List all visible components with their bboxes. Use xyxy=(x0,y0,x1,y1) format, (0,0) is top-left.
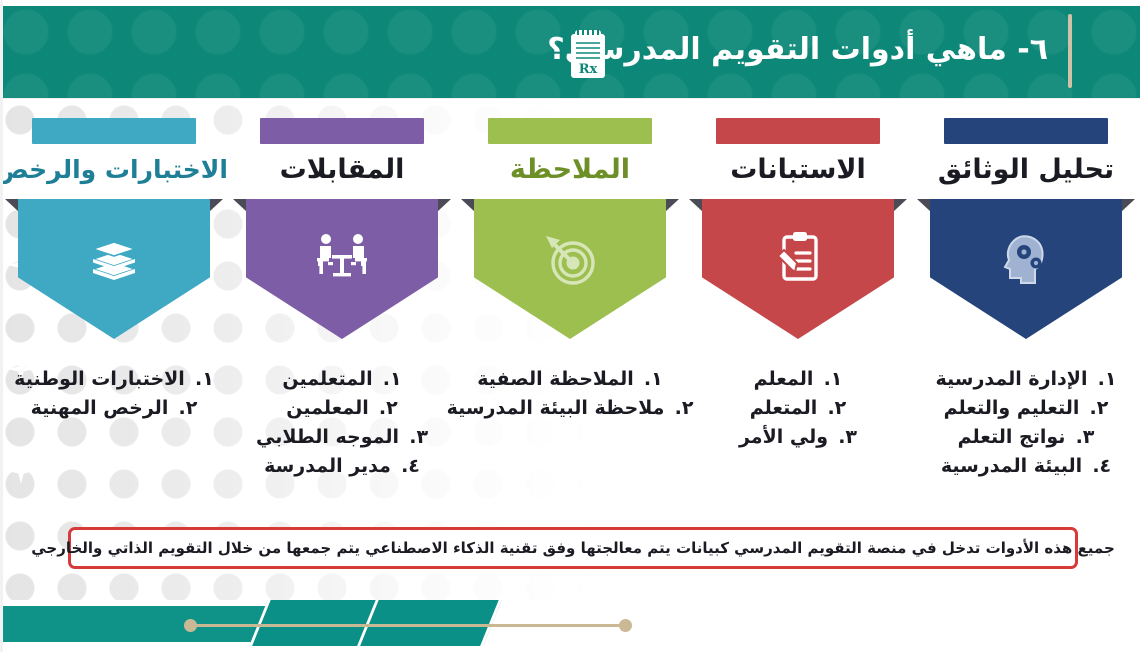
pennant-fold-icon xyxy=(461,199,475,212)
item-number: ٢. xyxy=(1088,394,1108,423)
item-number: ٢. xyxy=(826,394,846,423)
list-item: ١. المتعلمين xyxy=(242,365,442,394)
item-number: ٢. xyxy=(673,394,693,423)
item-number: ١. xyxy=(194,365,214,394)
item-number: ٢. xyxy=(378,394,398,423)
tools-columns: تحليل الوثائق xyxy=(0,118,1140,518)
column-title: تحليل الوثائق xyxy=(912,153,1140,187)
header-divider-rule xyxy=(1068,14,1072,88)
pennant-fold-icon xyxy=(209,199,223,212)
item-label: الموجه الطلابي xyxy=(256,423,399,452)
pennant-fold-icon xyxy=(233,199,247,212)
page-title: ٦- ماهي أدوات التقويم المدرسي؟ xyxy=(547,22,1048,78)
note-text: جميع هذه الأدوات تدخل في منصة التقويم ال… xyxy=(31,539,1115,557)
column-pennant xyxy=(702,199,894,339)
column-document-analysis: تحليل الوثائق xyxy=(912,118,1140,518)
footer-dot-end xyxy=(619,619,632,632)
column-top-bar xyxy=(488,118,652,144)
column-title-plate: تحليل الوثائق xyxy=(912,144,1140,199)
item-label: الإدارة المدرسية xyxy=(936,365,1088,394)
column-top-bar xyxy=(716,118,880,144)
column-pennant xyxy=(474,199,666,339)
column-questionnaires: الاستبانات xyxy=(684,118,912,518)
column-item-list: ١. المتعلمين ٢. المعلمين ٣. الموجه الطلا… xyxy=(228,365,456,481)
item-label: المعلمين xyxy=(286,394,368,423)
column-tests-licenses: الاختبارات والرخص xyxy=(0,118,228,518)
item-number: ١. xyxy=(822,365,842,394)
column-item-list: ١. المعلم ٢. المتعلم ٣. ولي الأمر xyxy=(684,365,912,452)
column-pennant xyxy=(18,199,210,339)
list-item: ٤. مدير المدرسة xyxy=(242,452,442,481)
list-item: ٤. البيئة المدرسية xyxy=(926,452,1126,481)
list-item: ٢. المتعلم xyxy=(698,394,898,423)
item-number: ٣. xyxy=(1074,423,1094,452)
item-label: المعلم xyxy=(754,365,814,394)
stacked-books-icon xyxy=(81,225,147,291)
column-title: الاستبانات xyxy=(684,153,912,187)
item-label: التعليم والتعلم xyxy=(944,394,1080,423)
pennant-fold-icon xyxy=(437,199,451,212)
interview-two-people-icon xyxy=(309,225,375,291)
column-title: المقابلات xyxy=(228,153,456,187)
item-number: ٤. xyxy=(400,452,420,481)
footer-baseline xyxy=(0,646,1140,652)
item-number: ٢. xyxy=(177,394,197,423)
column-observation: الملاحظة xyxy=(456,118,684,518)
clipboard-pencil-icon xyxy=(765,225,831,291)
item-number: ١. xyxy=(643,365,663,394)
item-label: المتعلمين xyxy=(282,365,372,394)
list-item: ١. الملاحظة الصفية xyxy=(470,365,670,394)
pennant-fold-icon xyxy=(665,199,679,212)
item-number: ٣. xyxy=(837,423,857,452)
column-pennant xyxy=(246,199,438,339)
item-label: نواتج التعلم xyxy=(958,423,1066,452)
item-label: المتعلم xyxy=(750,394,818,423)
clipboard-prescription-icon: Rx xyxy=(566,28,610,80)
list-item: ١. الاختبارات الوطنية xyxy=(14,365,214,394)
list-item: ٣. نواتج التعلم xyxy=(926,423,1126,452)
list-item: ٣. ولي الأمر xyxy=(698,423,898,452)
footer-dot-start xyxy=(184,619,197,632)
column-item-list: ١. الاختبارات الوطنية ٢. الرخص المهنية xyxy=(0,365,228,423)
column-title: الاختبارات والرخص xyxy=(0,153,228,187)
column-title-plate: الملاحظة xyxy=(456,144,684,199)
list-item: ٢. المعلمين xyxy=(242,394,442,423)
note-banner: جميع هذه الأدوات تدخل في منصة التقويم ال… xyxy=(68,527,1078,569)
slide-header-bar: ٦- ماهي أدوات التقويم المدرسي؟ xyxy=(0,6,1140,98)
pennant-fold-icon xyxy=(1121,199,1135,212)
item-label: الملاحظة الصفية xyxy=(477,365,633,394)
list-item: ١. المعلم xyxy=(698,365,898,394)
list-item: ٣. الموجه الطلابي xyxy=(242,423,442,452)
item-number: ١. xyxy=(382,365,402,394)
column-top-bar xyxy=(944,118,1108,144)
column-title-plate: الاستبانات xyxy=(684,144,912,199)
pennant-fold-icon xyxy=(5,199,19,212)
footer-progress-line xyxy=(190,624,630,627)
item-label: الرخص المهنية xyxy=(31,394,169,423)
column-title: الملاحظة xyxy=(456,153,684,187)
column-pennant xyxy=(930,199,1122,339)
item-label: ملاحظة البيئة المدرسية xyxy=(447,394,665,423)
item-label: الاختبارات الوطنية xyxy=(14,365,185,394)
list-item: ٢. التعليم والتعلم xyxy=(926,394,1126,423)
svg-text:Rx: Rx xyxy=(579,62,598,77)
item-number: ٣. xyxy=(408,423,428,452)
column-item-list: ١. الملاحظة الصفية ٢. ملاحظة البيئة المد… xyxy=(456,365,684,423)
head-gears-icon xyxy=(993,225,1059,291)
target-arrow-icon xyxy=(537,225,603,291)
pennant-fold-icon xyxy=(689,199,703,212)
item-label: ولي الأمر xyxy=(739,423,828,452)
item-label: البيئة المدرسية xyxy=(941,452,1082,481)
item-number: ١. xyxy=(1096,365,1116,394)
item-number: ٤. xyxy=(1091,452,1111,481)
slide-canvas: ٦- ماهي أدوات التقويم المدرسي؟ xyxy=(0,0,1140,652)
column-title-plate: المقابلات xyxy=(228,144,456,199)
pennant-fold-icon xyxy=(917,199,931,212)
column-top-bar xyxy=(32,118,196,144)
column-top-bar xyxy=(260,118,424,144)
pennant-fold-icon xyxy=(893,199,907,212)
list-item: ٢. الرخص المهنية xyxy=(14,394,214,423)
column-item-list: ١. الإدارة المدرسية ٢. التعليم والتعلم ٣… xyxy=(912,365,1140,481)
column-title-plate: الاختبارات والرخص xyxy=(0,144,228,199)
column-interviews: المقابلات xyxy=(228,118,456,518)
item-label: مدير المدرسة xyxy=(264,452,391,481)
list-item: ٢. ملاحظة البيئة المدرسية xyxy=(470,394,670,423)
list-item: ١. الإدارة المدرسية xyxy=(926,365,1126,394)
slide-left-edge xyxy=(0,0,3,652)
